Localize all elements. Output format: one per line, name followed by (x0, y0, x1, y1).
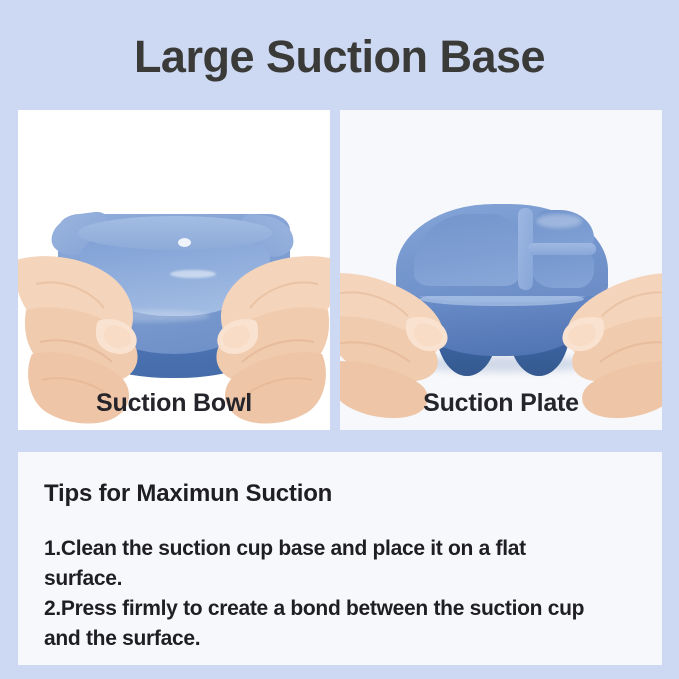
tip-line: 1.Clean the suction cup base and place i… (44, 534, 636, 564)
tip-line: surface. (44, 564, 636, 594)
tips-heading: Tips for Maximun Suction (44, 480, 636, 508)
suction-plate-photo (340, 110, 662, 430)
page-title: Large Suction Base (0, 26, 679, 88)
tip-line: 2.Press firmly to create a bond between … (44, 594, 636, 624)
bowl-rim (78, 216, 272, 250)
panel-suction-bowl: Suction Bowl (18, 110, 330, 430)
plate-divider-horizontal (528, 243, 596, 255)
panel-suction-plate: Suction Plate (340, 110, 662, 430)
tip-line: and the surface. (44, 624, 636, 654)
infographic-page: Large Suction Base (0, 0, 679, 679)
panel-caption-plate: Suction Plate (340, 389, 662, 418)
suction-bowl-photo (18, 110, 330, 430)
bowl-highlight (178, 238, 191, 247)
plate-highlight (536, 214, 582, 228)
tips-panel: Tips for Maximun Suction 1.Clean the suc… (18, 452, 662, 665)
panel-caption-bowl: Suction Bowl (18, 389, 330, 418)
